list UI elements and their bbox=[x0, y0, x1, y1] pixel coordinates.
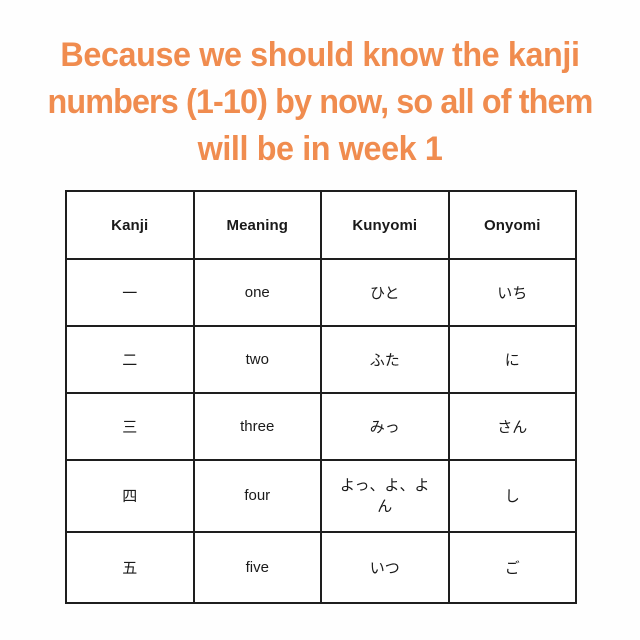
cell-kunyomi: ひと bbox=[321, 259, 449, 326]
cell-onyomi: いち bbox=[449, 259, 577, 326]
page-title: Because we should know the kanji numbers… bbox=[16, 32, 624, 173]
cell-kanji: 三 bbox=[66, 393, 194, 460]
table-row: 四 four よっ、よ、よん し bbox=[66, 460, 576, 532]
cell-kunyomi: よっ、よ、よん bbox=[321, 460, 449, 532]
cell-kanji: 五 bbox=[66, 532, 194, 603]
cell-onyomi: ご bbox=[449, 532, 577, 603]
table-row: 二 two ふた に bbox=[66, 326, 576, 393]
cell-onyomi: さん bbox=[449, 393, 577, 460]
slide-canvas: Because we should know the kanji numbers… bbox=[0, 0, 640, 640]
table-row: 一 one ひと いち bbox=[66, 259, 576, 326]
cell-onyomi: に bbox=[449, 326, 577, 393]
cell-kanji: 一 bbox=[66, 259, 194, 326]
column-header-kanji: Kanji bbox=[66, 191, 194, 259]
cell-meaning: five bbox=[194, 532, 322, 603]
cell-kunyomi: みっ bbox=[321, 393, 449, 460]
cell-onyomi: し bbox=[449, 460, 577, 532]
page-title-line-3: will be in week 1 bbox=[18, 126, 622, 173]
column-header-kunyomi: Kunyomi bbox=[321, 191, 449, 259]
cell-kunyomi: ふた bbox=[321, 326, 449, 393]
cell-meaning: one bbox=[194, 259, 322, 326]
kanji-number-table: Kanji Meaning Kunyomi Onyomi 一 one ひと いち… bbox=[65, 190, 577, 604]
column-header-onyomi: Onyomi bbox=[449, 191, 577, 259]
cell-kanji: 四 bbox=[66, 460, 194, 532]
cell-meaning: three bbox=[194, 393, 322, 460]
table-row: 五 five いつ ご bbox=[66, 532, 576, 603]
column-header-meaning: Meaning bbox=[194, 191, 322, 259]
page-title-line-1: Because we should know the kanji bbox=[18, 32, 622, 79]
cell-meaning: two bbox=[194, 326, 322, 393]
page-title-line-2: numbers (1-10) by now, so all of them bbox=[18, 79, 622, 126]
cell-kanji: 二 bbox=[66, 326, 194, 393]
table-row: 三 three みっ さん bbox=[66, 393, 576, 460]
kanji-table-container: Kanji Meaning Kunyomi Onyomi 一 one ひと いち… bbox=[65, 190, 575, 604]
table-header-row: Kanji Meaning Kunyomi Onyomi bbox=[66, 191, 576, 259]
cell-kunyomi: いつ bbox=[321, 532, 449, 603]
cell-meaning: four bbox=[194, 460, 322, 532]
